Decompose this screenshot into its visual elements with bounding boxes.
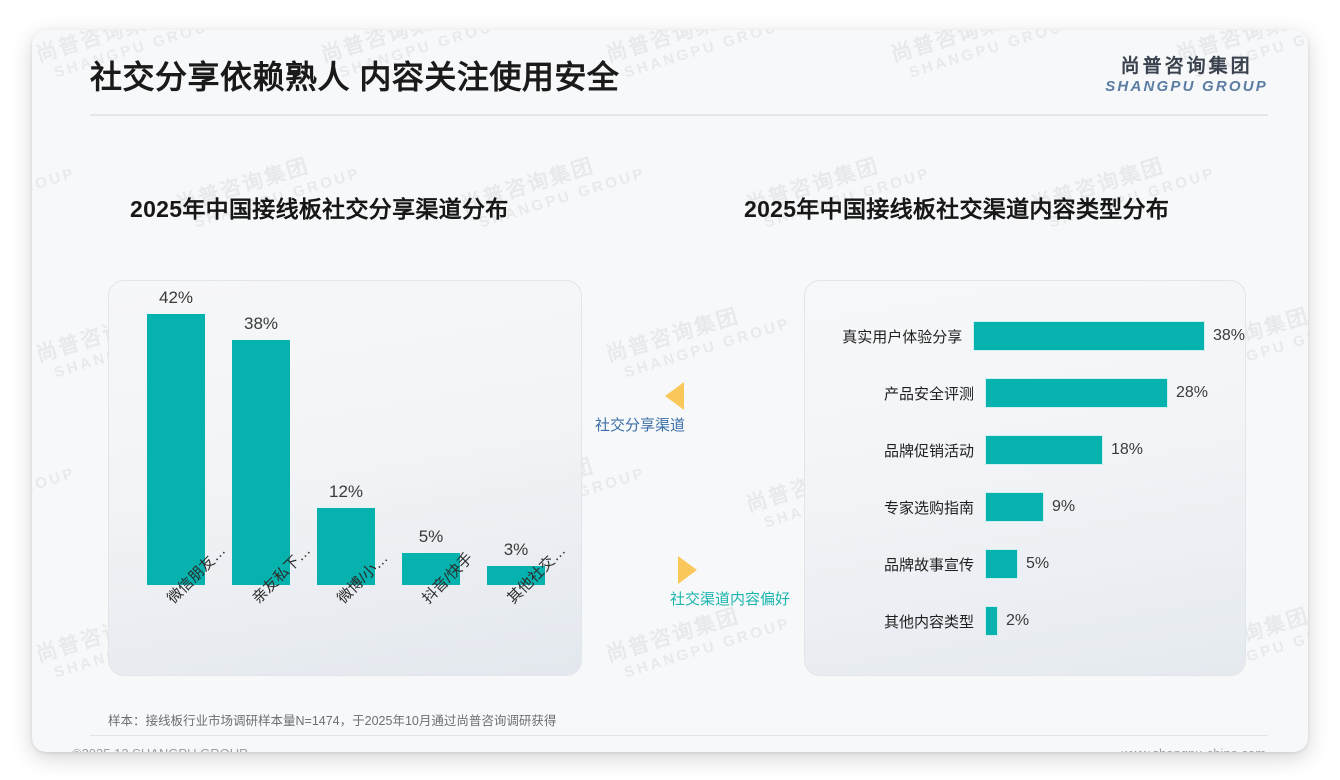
bar-rect [985, 435, 1103, 465]
callout-social-channel: 社交分享渠道 [595, 382, 685, 435]
watermark-text: 尚普咨询集团SHANGPU GROUP [32, 436, 78, 535]
bar-column: 5%抖音/快手 [402, 553, 460, 585]
bar-value-label: 38% [1213, 327, 1245, 345]
brand-logo: 尚普咨询集团 SHANGPU GROUP [1105, 56, 1268, 96]
bar-row: 专家选购指南9% [805, 490, 1245, 524]
brand-name-cn: 尚普咨询集团 [1105, 56, 1268, 78]
bar-rect [985, 492, 1044, 522]
left-chart-title: 2025年中国接线板社交分享渠道分布 [130, 190, 509, 224]
bar-rect [973, 321, 1205, 351]
header-divider [90, 114, 1268, 116]
bar-column: 42%微信朋友… [147, 314, 205, 585]
bar-rect [985, 378, 1168, 408]
bar-value-label: 28% [1176, 384, 1208, 402]
bar-rect [232, 340, 290, 585]
bar-value-label: 2% [1006, 612, 1029, 630]
bar-category-label: 品牌故事宣传 [805, 554, 985, 575]
triangle-right-icon [678, 556, 697, 584]
footer-website: www.shangpu-china.com [1121, 746, 1266, 752]
bar-value-label: 5% [419, 527, 444, 547]
bar-value-label: 38% [244, 314, 278, 334]
source-footnote: 样本：接线板行业市场调研样本量N=1474，于2025年10月通过尚普咨询调研获… [108, 710, 556, 729]
bar-value-label: 5% [1026, 555, 1049, 573]
triangle-left-icon [665, 382, 684, 410]
bar-category-label: 品牌促销活动 [805, 440, 985, 461]
bar-category-label: 其他内容类型 [805, 611, 985, 632]
watermark-text: 尚普咨询集团SHANGPU GROUP [32, 736, 78, 752]
bar-row: 产品安全评测28% [805, 376, 1245, 410]
slide-canvas: 尚普咨询集团SHANGPU GROUP尚普咨询集团SHANGPU GROUP尚普… [32, 30, 1308, 752]
bar-row: 品牌故事宣传5% [805, 547, 1245, 581]
page-title: 社交分享依赖熟人 内容关注使用安全 [90, 52, 619, 98]
bar-value-label: 18% [1111, 441, 1143, 459]
bar-row: 品牌促销活动18% [805, 433, 1245, 467]
bar-rect [985, 606, 998, 636]
watermark-text: 尚普咨询集团SHANGPU GROUP [32, 136, 78, 235]
callout-content-preference: 社交渠道内容偏好 [670, 556, 790, 609]
bar-category-label: 产品安全评测 [805, 383, 985, 404]
bar-column: 38%亲友私下… [232, 340, 290, 585]
watermark-text: 尚普咨询集团SHANGPU GROUP [742, 736, 933, 752]
brand-name-en: SHANGPU GROUP [1105, 78, 1268, 96]
bar-category-label: 专家选购指南 [805, 497, 985, 518]
bar-value-label: 9% [1052, 498, 1075, 516]
bar-value-label: 42% [159, 288, 193, 308]
watermark-text: 尚普咨询集团SHANGPU GROUP [602, 286, 793, 385]
bar-row: 真实用户体验分享38% [805, 319, 1245, 353]
left-chart-panel: 42%微信朋友…38%亲友私下…12%微博/小…5%抖音/快手3%其他社交… [108, 280, 582, 676]
footer-copyright: ©2025.12 SHANGPU GROUP [72, 746, 248, 752]
right-chart-panel: 真实用户体验分享38%产品安全评测28%品牌促销活动18%专家选购指南9%品牌故… [804, 280, 1246, 676]
bar-value-label: 12% [329, 482, 363, 502]
bar-value-label: 3% [504, 540, 529, 560]
slide-header: 社交分享依赖熟人 内容关注使用安全 尚普咨询集团 SHANGPU GROUP [32, 30, 1308, 116]
bar-rect [147, 314, 205, 585]
bar-column: 3%其他社交… [487, 566, 545, 585]
bar-rect [985, 549, 1018, 579]
right-chart-title: 2025年中国接线板社交渠道内容类型分布 [744, 190, 1169, 224]
callout-content-preference-label: 社交渠道内容偏好 [670, 588, 790, 609]
bar-row: 其他内容类型2% [805, 604, 1245, 638]
callout-social-channel-label: 社交分享渠道 [595, 414, 685, 435]
watermark-text: 尚普咨询集团SHANGPU GROUP [457, 736, 648, 752]
bar-column: 12%微博/小… [317, 508, 375, 585]
vertical-bars-container: 42%微信朋友…38%亲友私下…12%微博/小…5%抖音/快手3%其他社交… [109, 281, 581, 675]
bar-category-label: 真实用户体验分享 [805, 326, 973, 347]
footer-divider [90, 735, 1268, 736]
